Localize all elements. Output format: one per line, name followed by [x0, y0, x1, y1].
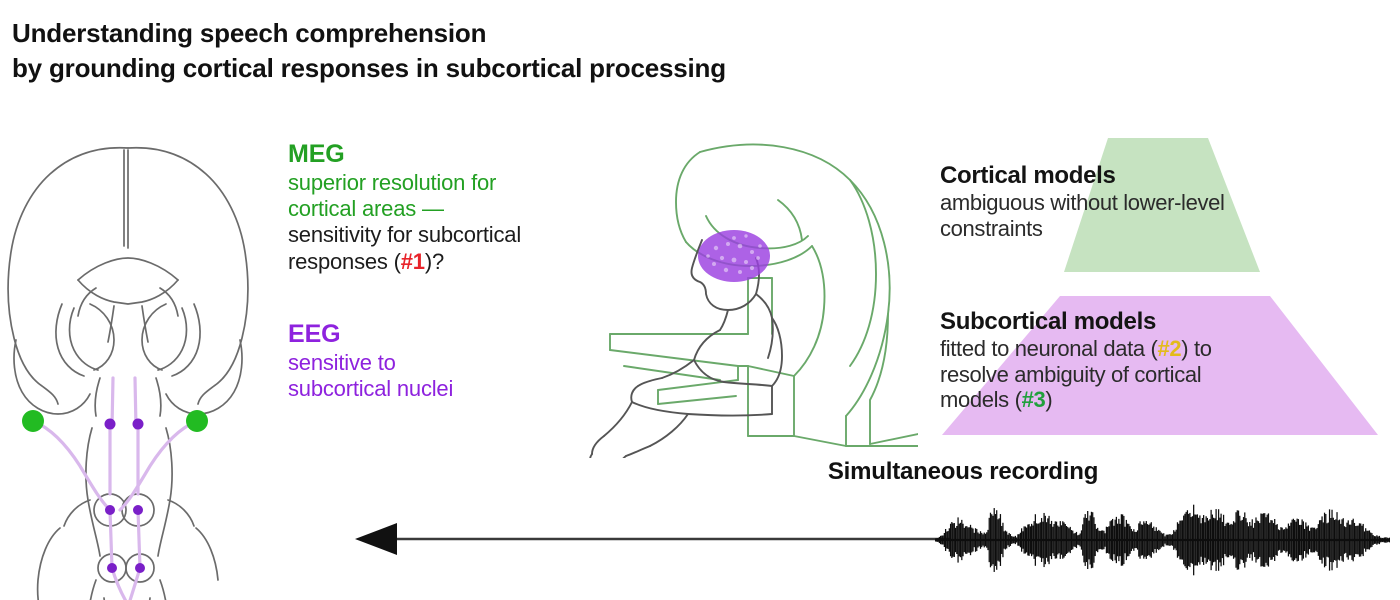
marker-1: #1	[401, 249, 425, 274]
brain-auditory-pathway-diagram	[0, 128, 290, 600]
speech-waveform	[935, 492, 1390, 588]
brain-highlight	[698, 230, 770, 282]
meg-responses-suffix: )?	[425, 249, 444, 274]
cortical-models-title: Cortical models	[940, 162, 1390, 190]
subcortical-models-title: Subcortical models	[940, 308, 1385, 336]
cortical-models-block: Cortical models ambiguous without lower-…	[940, 162, 1390, 241]
marker-3: #3	[1022, 387, 1046, 412]
subcortical-body-part-3: models (	[940, 387, 1022, 412]
meg-scanner-illustration	[588, 128, 918, 458]
subcortical-body-part-4: )	[1045, 387, 1052, 412]
subcortical-models-block: Subcortical models fitted to neuronal da…	[940, 308, 1385, 413]
cortical-marker-left	[22, 410, 44, 432]
cortical-models-line-1: ambiguous without lower-level	[940, 190, 1390, 216]
page-title: Understanding speech comprehension by gr…	[12, 16, 1112, 87]
subcortical-body-part-2: ) to	[1181, 336, 1211, 361]
cortical-models-line-2: constraints	[940, 216, 1390, 242]
signal-flow-arrow	[355, 515, 955, 563]
cortical-marker-right	[186, 410, 208, 432]
subcortical-models-line-1: fitted to neuronal data (#2) to	[940, 336, 1385, 362]
subcortical-body-part-1: fitted to neuronal data (	[940, 336, 1158, 361]
meg-responses-prefix: responses (	[288, 249, 401, 274]
subcortical-models-line-2: resolve ambiguity of cortical	[940, 362, 1385, 388]
simultaneous-recording-caption: Simultaneous recording	[553, 458, 1373, 486]
subcortical-models-line-3: models (#3)	[940, 387, 1385, 413]
marker-2: #2	[1158, 336, 1182, 361]
